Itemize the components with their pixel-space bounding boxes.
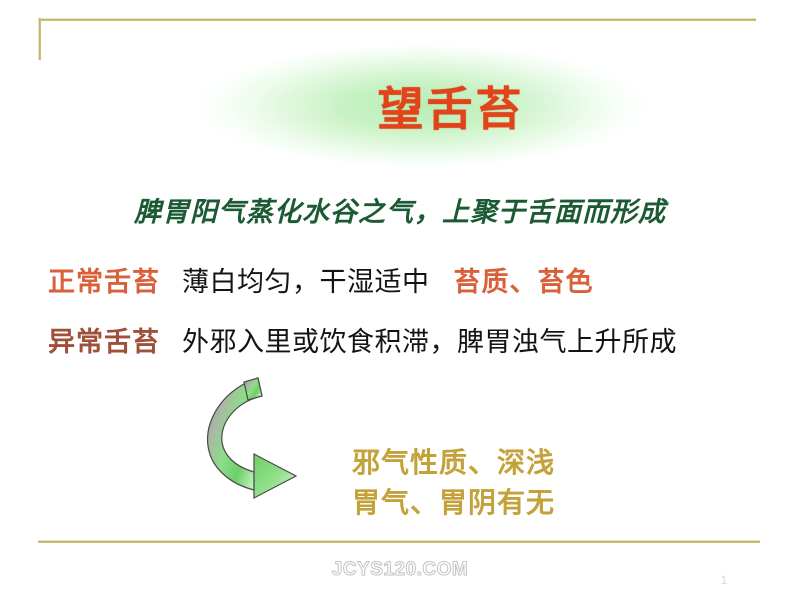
corner-page-mark: 1 bbox=[716, 572, 732, 588]
frame-rule-top bbox=[38, 18, 756, 21]
page-title: 望舌苔 bbox=[198, 46, 646, 166]
conclusion-line-1: 邪气性质、深浅 bbox=[352, 443, 555, 483]
curved-arrow-icon bbox=[196, 372, 340, 502]
conclusion-list: 邪气性质、深浅 胃气、胃阴有无 bbox=[352, 443, 555, 523]
label-normal-coating: 正常舌苔 bbox=[48, 260, 160, 299]
description-normal-coating: 薄白均匀，干湿适中 bbox=[182, 260, 430, 299]
conclusion-line-2: 胃气、胃阴有无 bbox=[352, 483, 555, 523]
footer-watermark: JCYS120.COM bbox=[0, 559, 800, 581]
slide-canvas: 望舌苔 脾胃阳气蒸化水谷之气，上聚于舌面而形成 正常舌苔 薄白均匀，干湿适中 苔… bbox=[0, 0, 800, 600]
subtitle-definition: 脾胃阳气蒸化水谷之气，上聚于舌面而形成 bbox=[0, 190, 800, 229]
row-normal-coating: 正常舌苔 薄白均匀，干湿适中 苔质、苔色 bbox=[48, 260, 788, 299]
row-abnormal-coating: 异常舌苔 外邪入里或饮食积滞，脾胃浊气上升所成 bbox=[48, 320, 788, 359]
accent-coating-attributes: 苔质、苔色 bbox=[454, 260, 594, 299]
title-block: 望舌苔 bbox=[198, 46, 646, 166]
description-abnormal-coating: 外邪入里或饮食积滞，脾胃浊气上升所成 bbox=[182, 320, 677, 359]
label-abnormal-coating: 异常舌苔 bbox=[48, 320, 160, 359]
frame-rule-bottom bbox=[38, 540, 760, 543]
frame-rule-left bbox=[38, 18, 41, 60]
